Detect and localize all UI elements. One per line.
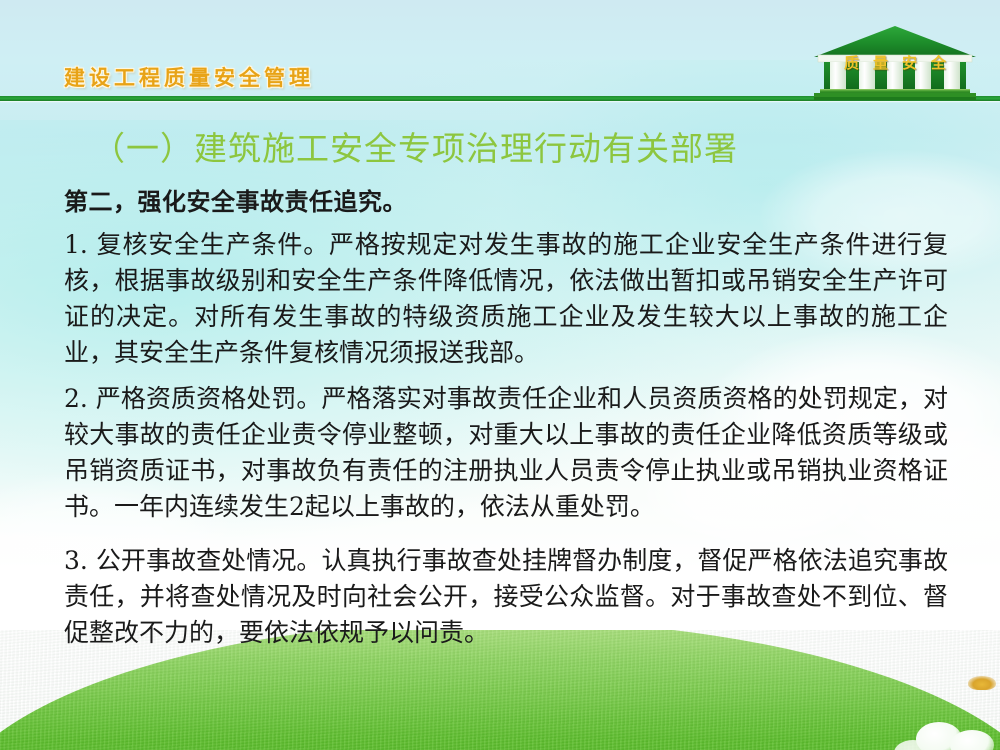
body-paragraph: 2. 严格资质资格处罚。严格落实对事故责任企业和人员资质资格的处罚规定，对较大事… xyxy=(64,381,948,525)
page-title: （一）建筑施工安全专项治理行动有关部署 xyxy=(92,122,922,170)
quality-safety-temple-logo: 质量安全 xyxy=(806,22,984,100)
presentation-slide: 建设工程质量安全管理 xyxy=(0,0,1000,750)
temple-icon xyxy=(806,22,984,100)
shrub-icon xyxy=(968,676,996,690)
header-title: 建设工程质量安全管理 xyxy=(64,62,314,92)
body-paragraph: 1. 复核安全生产条件。严格按规定对发生事故的施工企业安全生产条件进行复核，根据… xyxy=(64,227,948,371)
body-paragraph: 3. 公开事故查处情况。认真执行事故查处挂牌督办制度，督促严格依法追究事故责任，… xyxy=(64,543,948,651)
section-subheading: 第二，强化安全事故责任追究。 xyxy=(64,182,948,217)
slide-body: 第二，强化安全事故责任追究。 1. 复核安全生产条件。严格按规定对发生事故的施工… xyxy=(64,182,948,651)
